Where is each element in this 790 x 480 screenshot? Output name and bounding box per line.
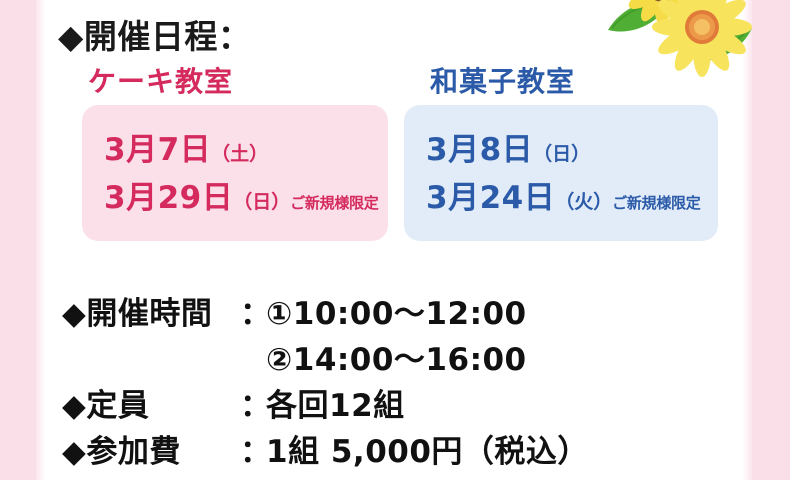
class-title-cake: ケーキ教室 xyxy=(88,60,233,100)
date-value: 3月7日 xyxy=(104,132,211,168)
detail-label: ◆開催時間 xyxy=(62,288,240,333)
date-value: 3月8日 xyxy=(426,132,533,168)
detail-value: ①10:00〜12:00 xyxy=(266,296,527,332)
date-dayofweek: （日） xyxy=(233,191,290,213)
date-dayofweek: （日） xyxy=(533,143,590,165)
date-note: ご新規様限定 xyxy=(612,194,700,212)
date-dayofweek: （土） xyxy=(211,143,268,165)
detail-row-fee: ◆参加費：1組 5,000円（税込） xyxy=(62,426,589,471)
date-line: 3月29日（日）ご新規様限定 xyxy=(104,183,378,214)
detail-row-time: ◆開催時間：①10:00〜12:00 xyxy=(62,288,527,333)
detail-value: ②14:00〜16:00 xyxy=(266,342,527,378)
detail-row-capacity: ◆定員：各回12組 xyxy=(62,380,405,425)
date-dayofweek: （火） xyxy=(555,191,612,213)
date-value: 3月29日 xyxy=(104,180,233,216)
class-title-wagashi: 和菓子教室 xyxy=(430,60,575,100)
date-line: 3月7日（土） xyxy=(104,135,268,166)
date-card-wagashi: 3月8日（日） 3月24日（火）ご新規様限定 xyxy=(404,105,718,241)
detail-row-time-second: ②14:00〜16:00 xyxy=(266,334,527,379)
date-card-cake: 3月7日（土） 3月29日（日）ご新規様限定 xyxy=(82,105,388,241)
date-line: 3月8日（日） xyxy=(426,135,590,166)
page-title: ◆開催日程： xyxy=(58,10,251,58)
event-flyer: ◆開催日程： ケーキ教室 3月7日（土） 3月29日（日）ご新規様限定 和菓子教… xyxy=(0,0,790,480)
detail-label: ◆参加費 xyxy=(62,426,240,471)
flyer-content: ◆開催日程： ケーキ教室 3月7日（土） 3月29日（日）ご新規様限定 和菓子教… xyxy=(0,0,790,480)
detail-value: 各回12組 xyxy=(266,388,405,424)
date-line: 3月24日（火）ご新規様限定 xyxy=(426,183,700,214)
detail-colon: ： xyxy=(240,380,266,425)
detail-colon: ： xyxy=(240,288,266,333)
date-note: ご新規様限定 xyxy=(290,194,378,212)
detail-label: ◆定員 xyxy=(62,380,240,425)
detail-colon: ： xyxy=(240,426,266,471)
date-value: 3月24日 xyxy=(426,180,555,216)
detail-value: 1組 5,000円（税込） xyxy=(266,434,589,470)
